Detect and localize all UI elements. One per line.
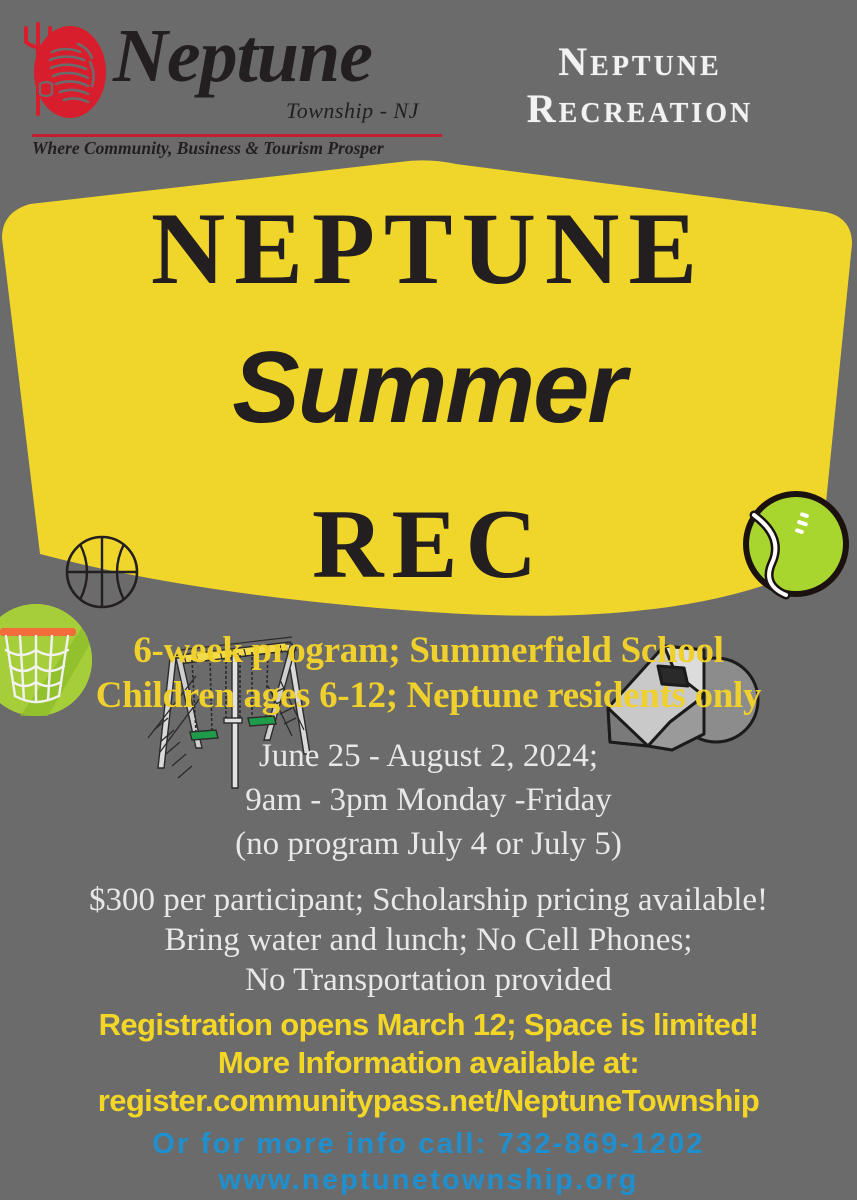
contact-phone[interactable]: Or for more info call: 732-869-1202 xyxy=(0,1126,857,1162)
tennis-ball-icon xyxy=(742,485,854,603)
contact-website[interactable]: www.neptunetownship.org xyxy=(0,1162,857,1198)
spacer-1 xyxy=(0,718,857,734)
registration-block: Registration opens March 12; Space is li… xyxy=(0,1006,857,1120)
registration-url[interactable]: register.communitypass.net/NeptuneTownsh… xyxy=(0,1082,857,1120)
policy-line-2: Bring water and lunch; No Cell Phones; xyxy=(0,920,857,960)
department-title-line2: Recreation xyxy=(430,85,850,132)
department-title: Neptune Recreation xyxy=(430,38,850,132)
department-title-line1: Neptune xyxy=(558,39,721,84)
logo-wordmark: Neptune xyxy=(113,18,372,94)
contact-block: Or for more info call: 732-869-1202 www.… xyxy=(0,1126,857,1198)
schedule-line-2: 9am - 3pm Monday -Friday xyxy=(0,778,857,822)
policy-line-3: No Transportation provided xyxy=(0,960,857,1000)
schedule-block: June 25 - August 2, 2024; 9am - 3pm Mond… xyxy=(0,734,857,866)
spacer-2 xyxy=(0,866,857,880)
banner-title-top: NEPTUNE xyxy=(0,198,857,301)
logo-divider xyxy=(32,134,442,137)
policies-block: $300 per participant; Scholarship pricin… xyxy=(0,880,857,1000)
poster-canvas: Neptune Township - NJ Where Community, B… xyxy=(0,0,857,1200)
schedule-line-1: June 25 - August 2, 2024; xyxy=(0,734,857,778)
registration-line-2: More Information available at: xyxy=(0,1044,857,1082)
highlight-block: 6-week program; Summerfield School Child… xyxy=(0,628,857,718)
poster-header: Neptune Township - NJ Where Community, B… xyxy=(0,0,857,160)
logo-tagline: Where Community, Business & Tourism Pros… xyxy=(32,138,452,159)
highlight-line-1: 6-week program; Summerfield School xyxy=(0,628,857,673)
highlight-line-2: Children ages 6-12; Neptune residents on… xyxy=(0,673,857,718)
registration-line-1: Registration opens March 12; Space is li… xyxy=(0,1006,857,1044)
basketball-icon xyxy=(62,532,142,612)
title-banner: NEPTUNE Summer REC xyxy=(0,160,857,640)
logo-subtitle: Township - NJ xyxy=(286,98,419,124)
neptune-trident-head-icon xyxy=(18,22,114,122)
township-logo: Neptune Township - NJ Where Community, B… xyxy=(18,18,438,148)
banner-title-middle: Summer xyxy=(0,338,857,439)
schedule-line-3: (no program July 4 or July 5) xyxy=(0,822,857,866)
poster-copy: 6-week program; Summerfield School Child… xyxy=(0,628,857,1198)
policy-line-1: $300 per participant; Scholarship pricin… xyxy=(0,880,857,920)
